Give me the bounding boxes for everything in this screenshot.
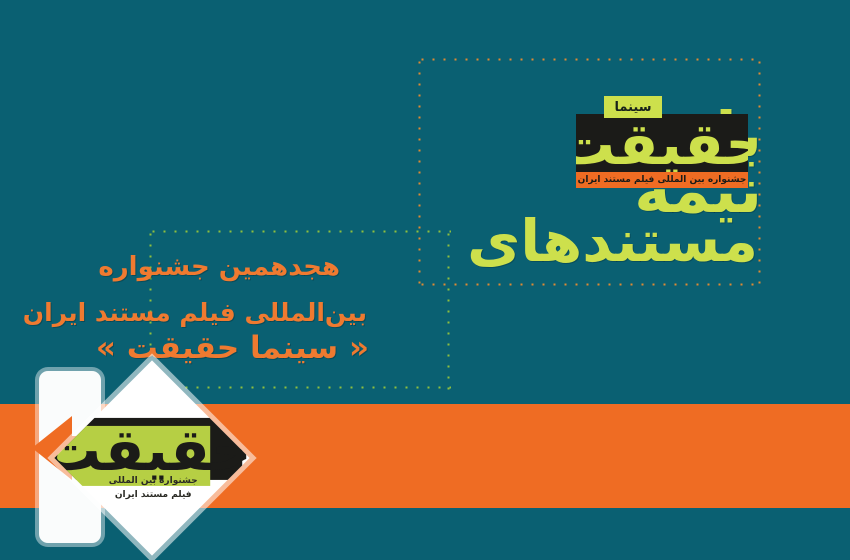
frame-edge-bottom xyxy=(148,385,451,390)
logo-strip-text: جشنواره بین المللی فیلم مستند ایران xyxy=(576,172,748,188)
info-line-2: بین‌المللی فیلم مستند ایران xyxy=(23,298,367,327)
frame-edge-bottom xyxy=(417,282,762,287)
headline-line-3: مستندهای xyxy=(467,212,758,270)
logo-main-word: حقیقت xyxy=(576,108,748,180)
festival-logo: سینما حقیقت جشنواره بین المللی فیلم مستن… xyxy=(570,96,760,206)
poster-canvas: بلند نیمه مستندهای سینما حقیقت جشنواره ب… xyxy=(0,0,850,560)
info-line-1: هجدهمین جشنواره xyxy=(98,252,340,282)
info-line-3: « سینما حقیقت » xyxy=(96,330,369,366)
badge-subtitle-line-1: جشنواره بین المللی xyxy=(68,474,238,488)
frame-edge-right xyxy=(446,229,451,390)
frame-edge-top xyxy=(148,229,451,234)
frame-edge-top xyxy=(417,57,762,62)
